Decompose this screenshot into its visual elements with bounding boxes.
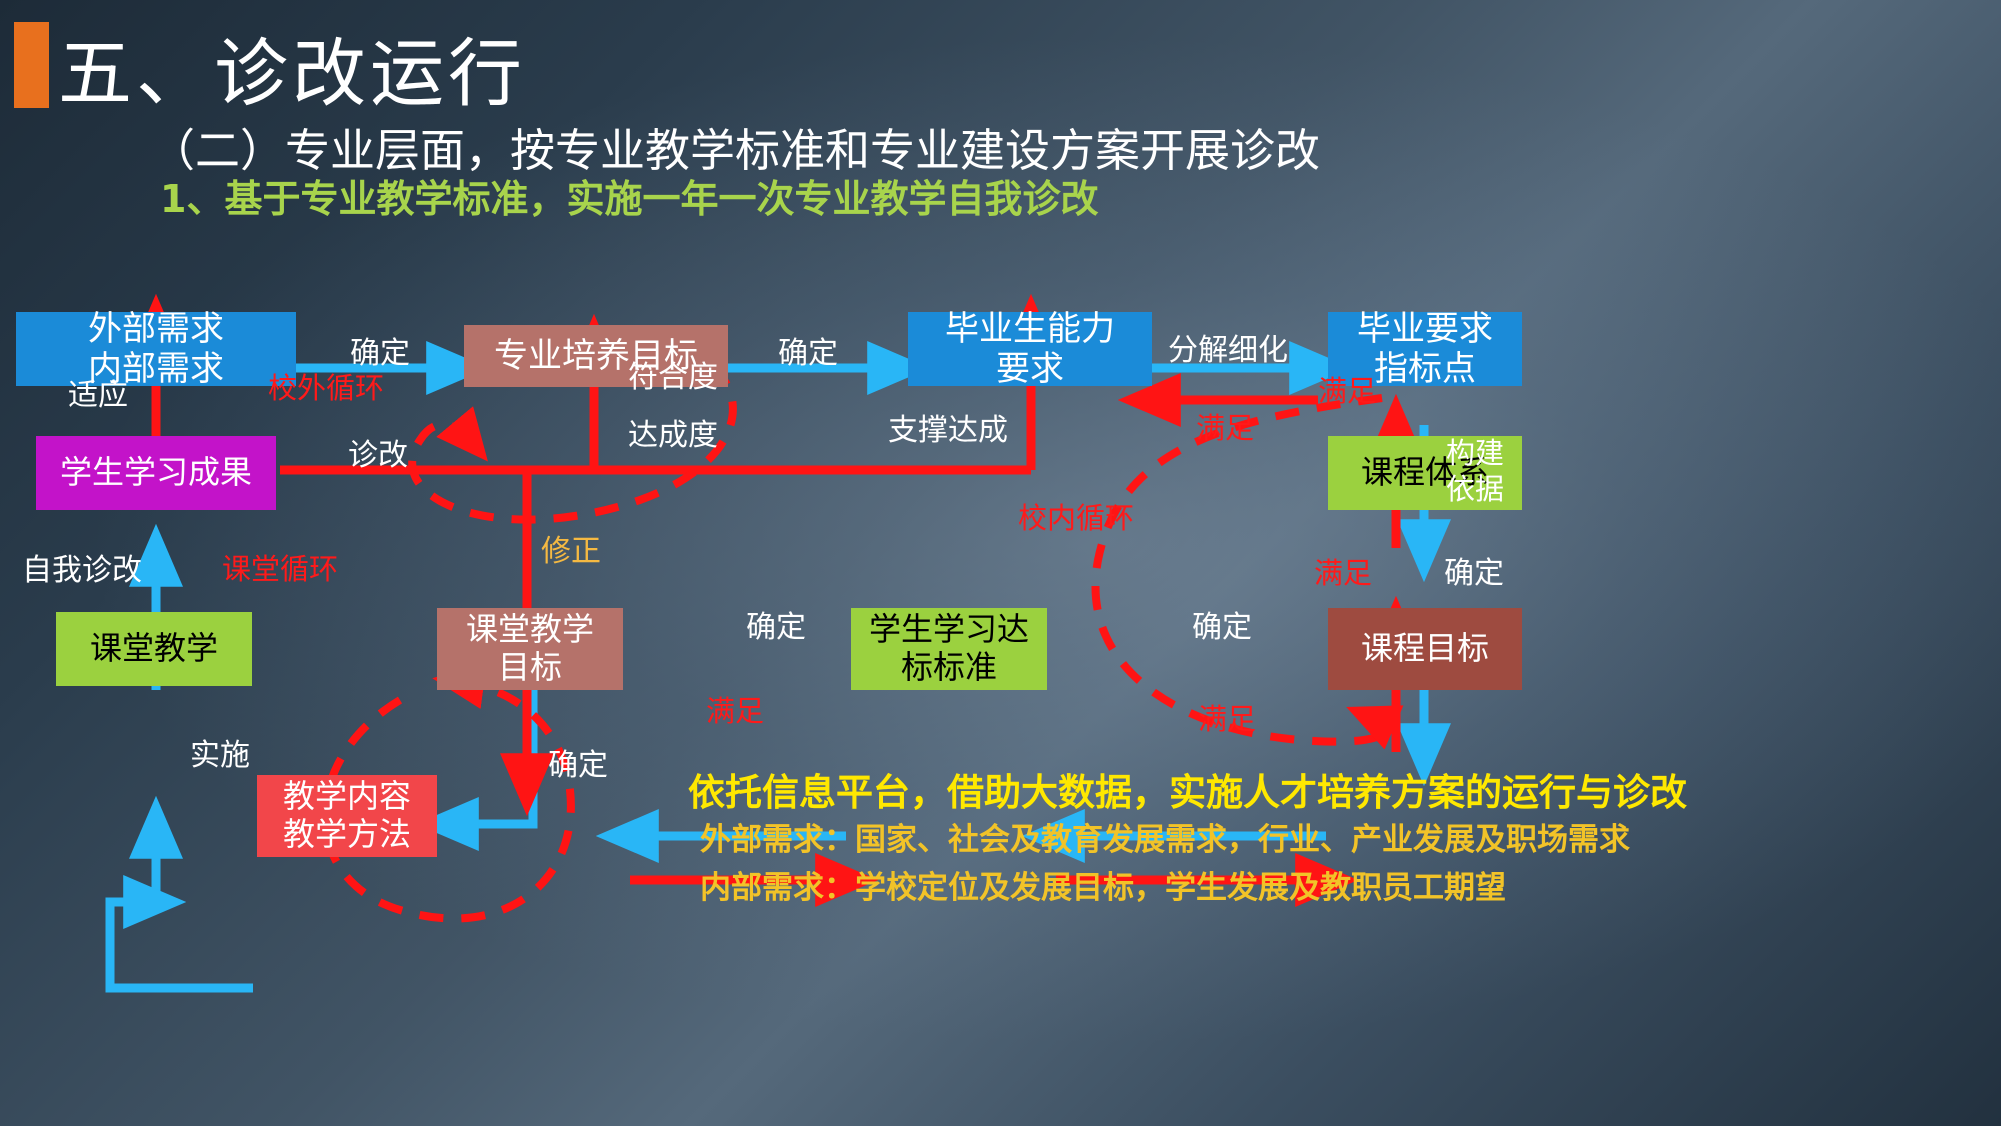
edge-label-determine-bottom: 确定 bbox=[548, 740, 608, 784]
edge-label-determine-right2: 确定 bbox=[1192, 602, 1252, 646]
edge-label-build-basis: 构建依据 bbox=[1438, 435, 1512, 508]
node-graduate-ability[interactable]: 毕业生能力 要求 bbox=[908, 312, 1152, 386]
edge-label-satisfy-bottom-mid: 满足 bbox=[706, 688, 764, 730]
edge-label-self-diagnose: 自我诊改 bbox=[22, 545, 142, 589]
slide-canvas: 五、诊改运行 （二）专业层面，按专业教学标准和专业建设方案开展诊改 1、基于专业… bbox=[0, 0, 2001, 1126]
node-label-line1: 学生学习达 bbox=[869, 611, 1029, 649]
node-label-line2: 目标 bbox=[466, 649, 594, 687]
edge-label-satisfy-right-upper: 满足 bbox=[1318, 368, 1376, 410]
edge-label-implement: 实施 bbox=[190, 730, 250, 774]
footer-line-1: 依托信息平台，借助大数据，实施人才培养方案的运行与诊改 bbox=[688, 762, 1687, 816]
node-label-line1: 毕业生能力 bbox=[945, 309, 1115, 349]
node-label-line1: 课堂教学 bbox=[466, 611, 594, 649]
node-label-line2: 标标准 bbox=[869, 649, 1029, 687]
edge-label-classroom-cycle: 课堂循环 bbox=[222, 546, 338, 588]
node-label-line1: 外部需求 bbox=[88, 309, 224, 349]
edge-label-determine-right: 确定 bbox=[1444, 548, 1504, 592]
edge-label-determine-2: 确定 bbox=[778, 328, 838, 372]
footer-line-2: 外部需求：国家、社会及教育发展需求，行业、产业发展及职场需求 bbox=[700, 814, 1630, 859]
node-external-internal-demand[interactable]: 外部需求 内部需求 bbox=[16, 312, 296, 386]
page-title: 五、诊改运行 bbox=[58, 14, 526, 121]
edge-label-adapt: 适应 bbox=[68, 370, 128, 414]
node-classroom-teaching-goal[interactable]: 课堂教学 目标 bbox=[437, 608, 623, 690]
edge-label-satisfy-top-right: 满足 bbox=[1196, 405, 1254, 447]
edge-label-satisfy-right-lower: 满足 bbox=[1314, 550, 1372, 592]
edge-label-support-achieve: 支撑达成 bbox=[888, 405, 1008, 449]
edge-label-internal-cycle: 校内循环 bbox=[1018, 495, 1134, 537]
edge-label-satisfy-bottom-right: 满足 bbox=[1198, 696, 1256, 738]
node-teaching-content-method[interactable]: 教学内容 教学方法 bbox=[257, 775, 437, 857]
node-label-line1: 毕业要求 bbox=[1357, 309, 1493, 349]
edge-label-determine-mid: 确定 bbox=[746, 602, 806, 646]
edge-label-revise: 修正 bbox=[541, 526, 601, 570]
node-classroom-teaching[interactable]: 课堂教学 bbox=[56, 612, 252, 686]
node-label-line2: 教学方法 bbox=[283, 816, 411, 854]
node-student-learning-outcome[interactable]: 学生学习成果 bbox=[36, 436, 276, 510]
node-label-line2: 要求 bbox=[945, 349, 1115, 389]
node-label-line1: 教学内容 bbox=[283, 778, 411, 816]
footer-line-3: 内部需求：学校定位及发展目标，学生发展及教职员工期望 bbox=[700, 862, 1506, 907]
node-label: 课程目标 bbox=[1361, 630, 1489, 668]
edge-label-decompose: 分解细化 bbox=[1168, 325, 1288, 369]
title-accent-bar bbox=[14, 22, 49, 108]
edge-label-attainment: 达成度 bbox=[628, 410, 718, 454]
node-label-line2: 指标点 bbox=[1357, 349, 1493, 389]
subtitle-secondary: 1、基于专业教学标准，实施一年一次专业教学自我诊改 bbox=[160, 168, 1098, 223]
edge-label-diagnose: 诊改 bbox=[348, 430, 408, 474]
edge-label-conformity: 符合度 bbox=[628, 352, 718, 396]
node-label: 课堂教学 bbox=[90, 630, 218, 668]
node-label: 学生学习成果 bbox=[60, 454, 252, 492]
edge-label-external-cycle: 校外循环 bbox=[268, 365, 384, 407]
node-course-goal[interactable]: 课程目标 bbox=[1328, 608, 1522, 690]
node-student-learning-standard[interactable]: 学生学习达 标标准 bbox=[851, 608, 1047, 690]
